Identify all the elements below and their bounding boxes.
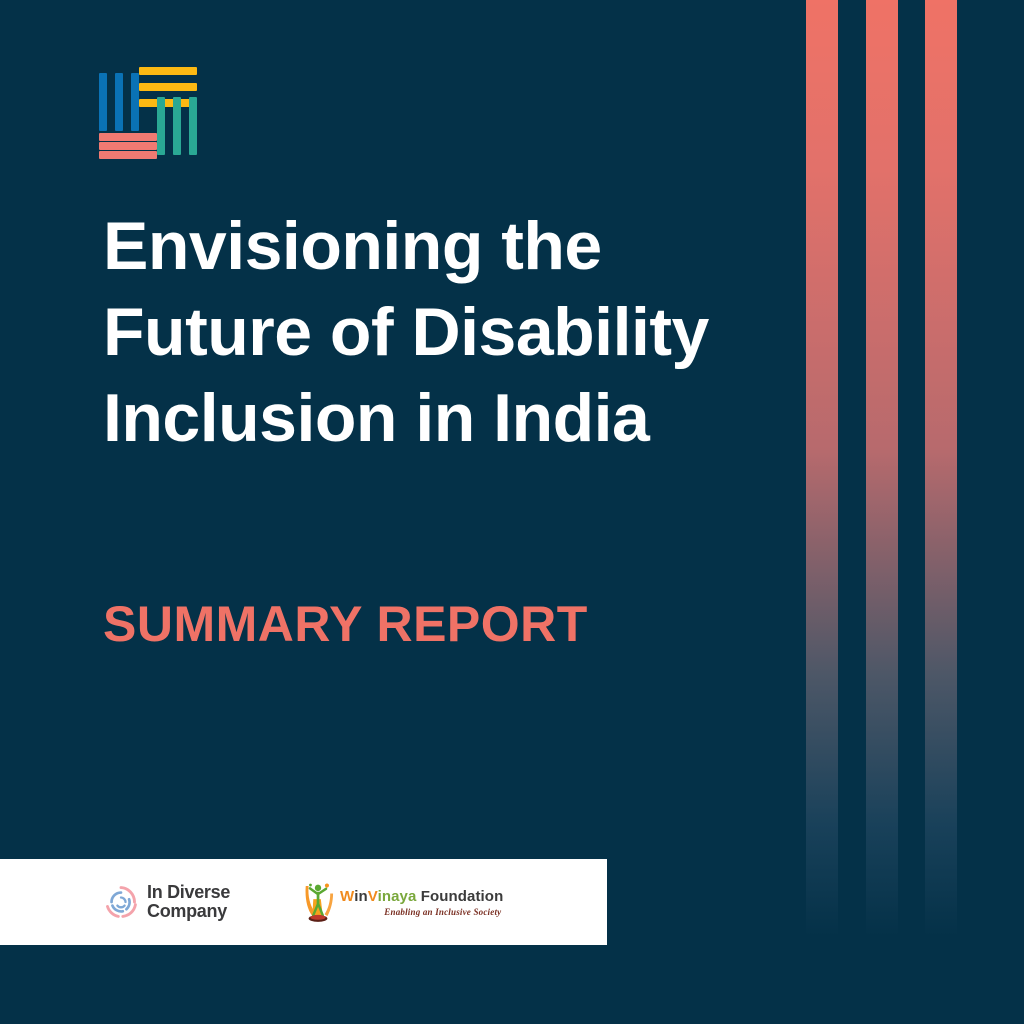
logo-bar-yellow [139, 83, 197, 91]
winvinaya-wordmark: WinVinaya Foundation Enabling an Inclusi… [340, 888, 503, 917]
logo-bar-blue [131, 73, 139, 131]
partner-in-diverse-company: In Diverse Company [103, 883, 230, 921]
decorative-stripe [925, 0, 957, 937]
winvinaya-tagline: Enabling an Inclusive Society [384, 907, 501, 917]
in-diverse-company-wordmark: In Diverse Company [147, 883, 230, 921]
pinwheel-logo-icon [99, 63, 197, 161]
decorative-stripe [806, 0, 838, 937]
spiral-arcs-icon [103, 884, 139, 920]
logo-bar-salmon [99, 133, 157, 141]
partner-logo-group: In Diverse Company [0, 880, 503, 924]
title-line: Inclusion in India [103, 375, 743, 461]
report-subtitle: SUMMARY REPORT [103, 595, 588, 653]
logo-bar-blue [99, 73, 107, 131]
logo-bar-salmon [99, 142, 157, 150]
logo-bar-teal [157, 97, 165, 155]
logo-bar-yellow [139, 67, 197, 75]
logo-bar-teal [189, 97, 197, 155]
title-line: Envisioning the [103, 203, 743, 289]
idc-name-line-1: In Diverse [147, 883, 230, 902]
winvinaya-name: WinVinaya Foundation [340, 888, 503, 905]
decorative-stripes [790, 0, 1024, 1024]
person-figure-icon [302, 880, 334, 924]
title-line: Future of Disability [103, 289, 743, 375]
wv-part-w: W [340, 888, 354, 905]
wv-part-inaya: inaya [378, 888, 417, 905]
report-title: Envisioning the Future of Disability Inc… [103, 203, 743, 461]
report-cover-page: Envisioning the Future of Disability Inc… [0, 0, 1024, 1024]
wv-part-v: V [368, 888, 378, 905]
partner-winvinaya-foundation: WinVinaya Foundation Enabling an Inclusi… [302, 880, 503, 924]
wv-part-in: in [354, 888, 368, 905]
wv-part-foundation: Foundation [416, 888, 503, 905]
logo-bar-blue [115, 73, 123, 131]
partner-logo-bar: In Diverse Company [0, 859, 607, 945]
logo-bar-teal [173, 97, 181, 155]
logo-bar-salmon [99, 151, 157, 159]
idc-name-line-2: Company [147, 902, 230, 921]
decorative-stripe [866, 0, 898, 937]
